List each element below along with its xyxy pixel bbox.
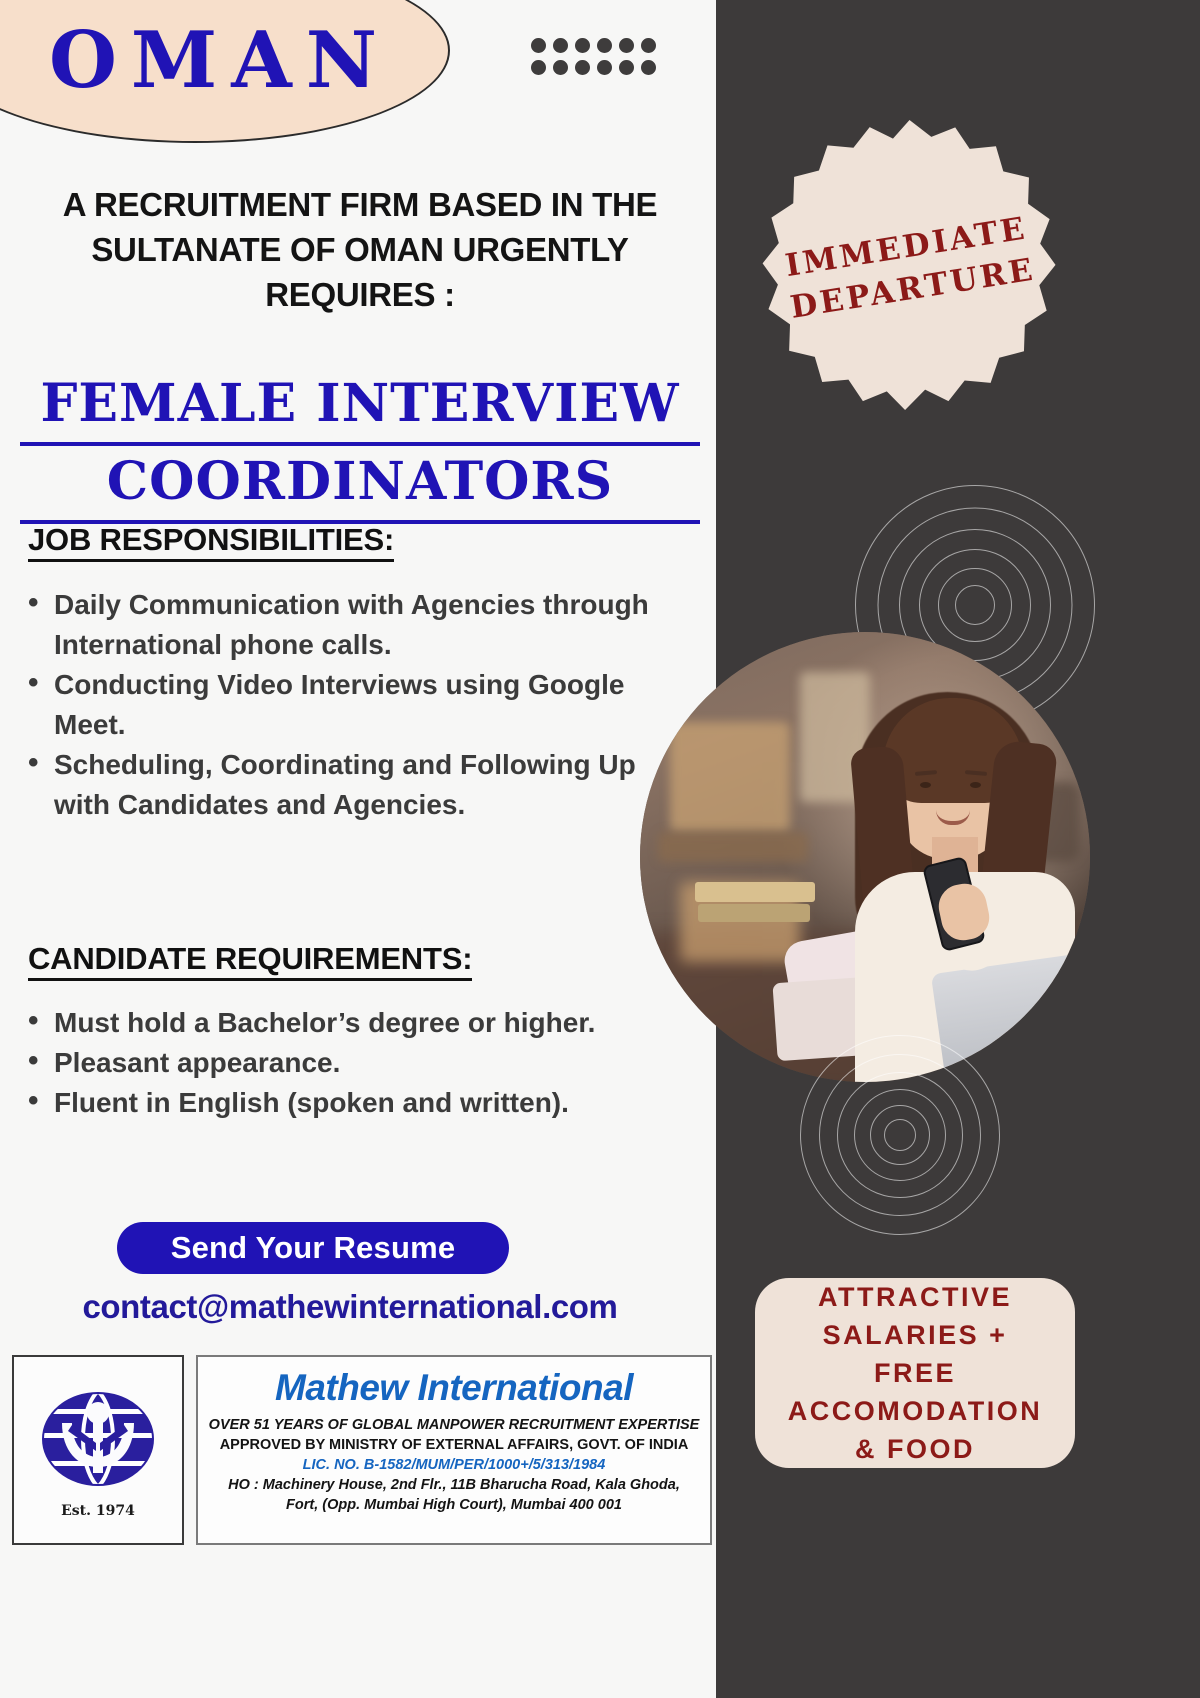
immediate-departure-label: IMMEDIATE DEPARTURE	[741, 99, 1079, 437]
salary-benefits-box: ATTRACTIVE SALARIES + FREE ACCOMODATION …	[755, 1278, 1075, 1468]
salary-line-5: & FOOD	[788, 1430, 1042, 1468]
list-item: Scheduling, Coordinating and Following U…	[24, 745, 664, 825]
dot-icon	[531, 60, 546, 75]
responsibilities-heading: JOB RESPONSIBILITIES:	[28, 522, 394, 562]
dot-icon	[641, 38, 656, 53]
salary-line-4: ACCOMODATION	[788, 1392, 1042, 1430]
salary-benefits-text: ATTRACTIVE SALARIES + FREE ACCOMODATION …	[788, 1278, 1042, 1468]
dot-icon	[553, 38, 568, 53]
company-name: Mathew International	[198, 1367, 710, 1409]
requirements-list: Must hold a Bachelor’s degree or higher.…	[24, 1003, 664, 1123]
contact-email[interactable]: contact@mathewinternational.com	[0, 1288, 700, 1326]
page-title: FEMALE INTERVIEW COORDINATORS	[20, 368, 700, 524]
list-item: Daily Communication with Agencies throug…	[24, 585, 664, 665]
dot-icon	[641, 60, 656, 75]
intro-headline: A RECRUITMENT FIRM BASED IN THE SULTANAT…	[30, 182, 690, 317]
list-item: Pleasant appearance.	[24, 1043, 664, 1083]
responsibilities-list: Daily Communication with Agencies throug…	[24, 585, 664, 825]
send-resume-button[interactable]: Send Your Resume	[117, 1222, 509, 1274]
salary-line-2: SALARIES +	[788, 1316, 1042, 1354]
company-approval: APPROVED BY MINISTRY OF EXTERNAL AFFAIRS…	[198, 1435, 710, 1455]
established-label: Est. 1974	[61, 1503, 135, 1519]
dot-icon	[597, 60, 612, 75]
dot-icon	[553, 60, 568, 75]
company-info-box: Mathew International OVER 51 YEARS OF GL…	[196, 1355, 712, 1545]
poster-root: OMAN A RECRUITMENT FIRM BASED IN THE SUL…	[0, 0, 1200, 1698]
job-title-line-1: FEMALE INTERVIEW	[20, 368, 700, 446]
company-tagline: OVER 51 YEARS OF GLOBAL MANPOWER RECRUIT…	[198, 1415, 710, 1435]
dot-icon	[597, 38, 612, 53]
company-logo-box: Est. 1974	[12, 1355, 184, 1545]
requirements-heading: CANDIDATE REQUIREMENTS:	[28, 941, 472, 981]
list-item: Conducting Video Interviews using Google…	[24, 665, 664, 745]
list-item: Must hold a Bachelor’s degree or higher.	[24, 1003, 664, 1043]
dot-grid-decoration	[531, 38, 663, 82]
globe-figure-logo-icon	[38, 1381, 158, 1501]
dot-icon	[619, 38, 634, 53]
company-license: LIC. NO. B-1582/MUM/PER/1000+/5/313/1984	[198, 1455, 710, 1475]
list-item: Fluent in English (spoken and written).	[24, 1083, 664, 1123]
job-title-line-2: COORDINATORS	[20, 446, 700, 524]
dot-icon	[531, 38, 546, 53]
dot-icon	[575, 38, 590, 53]
dot-icon	[619, 60, 634, 75]
company-address-line-1: HO : Machinery House, 2nd Flr., 11B Bhar…	[198, 1475, 710, 1495]
candidate-photo	[640, 632, 1090, 1082]
company-address-line-2: Fort, (Opp. Mumbai High Court), Mumbai 4…	[198, 1495, 710, 1515]
dot-icon	[575, 60, 590, 75]
salary-line-1: ATTRACTIVE	[788, 1278, 1042, 1316]
salary-line-3: FREE	[788, 1354, 1042, 1392]
country-badge-label: OMAN	[10, 6, 430, 116]
